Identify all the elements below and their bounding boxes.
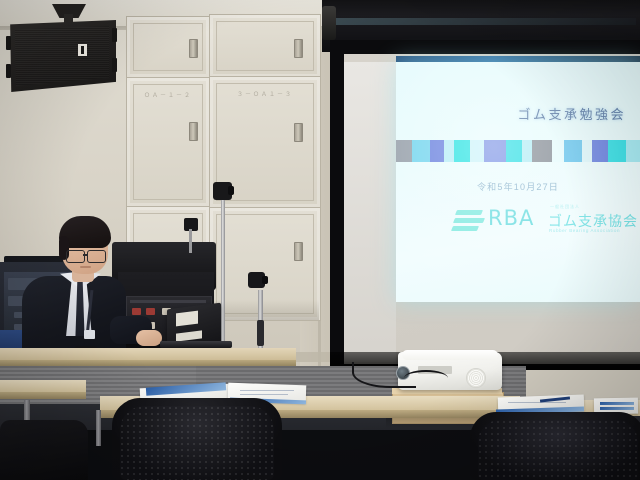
speaker-mount-tab — [112, 28, 117, 42]
speaker-mount-tab — [6, 64, 11, 78]
projection-glow — [396, 62, 640, 302]
cabinet-handle[interactable] — [189, 122, 198, 141]
speaker-badge-glyph — [81, 46, 84, 54]
front-left-table-edge — [0, 392, 86, 399]
camera-lens-icon — [228, 186, 234, 195]
cabinet-label: ＯＡ－１－２ — [127, 90, 209, 99]
camera-stand-pole — [189, 229, 192, 253]
chair-mesh-back — [478, 420, 638, 480]
photo-scene: ＯＡ－１－２ ３－ＯＡ１－３ ゴム支承勉強会 令和5年10月27日 RB — [0, 0, 640, 480]
glasses-bridge-icon — [83, 254, 87, 256]
camera-stand-grip — [257, 320, 264, 346]
laptop-sticker — [176, 311, 198, 327]
glasses-icon — [66, 250, 85, 263]
presenter-hand — [136, 330, 162, 346]
doc-accent — [600, 402, 634, 405]
doc-text-line — [508, 402, 566, 403]
presenter-mouth — [80, 266, 91, 268]
cabinet-handle[interactable] — [294, 123, 303, 142]
projector-vent — [466, 368, 486, 388]
av-record-button[interactable] — [132, 308, 141, 315]
av-panel-strip — [130, 300, 206, 303]
doc-text-line — [240, 394, 288, 395]
speaker-grill — [13, 26, 109, 86]
cabinet-door[interactable] — [126, 16, 210, 78]
cabinet-panel — [216, 214, 314, 314]
cabinet-handle[interactable] — [189, 39, 198, 58]
glasses-icon — [87, 250, 106, 263]
av-record-button[interactable] — [146, 308, 155, 315]
screen-unlit-margin — [344, 62, 396, 362]
camera-stand-pole — [221, 200, 225, 348]
camera-lens-icon — [262, 276, 268, 284]
cabinet-handle[interactable] — [294, 242, 303, 261]
speaker-mount-tab — [112, 58, 117, 72]
projector-top — [402, 350, 498, 360]
table-leg — [96, 410, 101, 446]
doc-text-line — [240, 390, 294, 391]
projector-cable — [404, 370, 448, 386]
cabinet-label: ３－ＯＡ１－３ — [210, 89, 320, 98]
presenter-id-badge — [84, 330, 95, 339]
doc-accent — [600, 407, 634, 410]
cabinet-door[interactable] — [209, 14, 321, 78]
office-chair[interactable] — [0, 420, 88, 480]
laptop-base[interactable] — [160, 341, 232, 348]
screen-housing-endcap — [322, 6, 336, 40]
chair-mesh-back — [120, 406, 274, 480]
cabinet-panel — [133, 84, 203, 200]
cabinet-door[interactable]: ＯＡ－１－２ — [126, 77, 210, 207]
speaker-mount-tab — [6, 36, 11, 50]
cabinet-handle[interactable] — [294, 39, 303, 58]
screen-housing-highlight — [336, 18, 636, 25]
